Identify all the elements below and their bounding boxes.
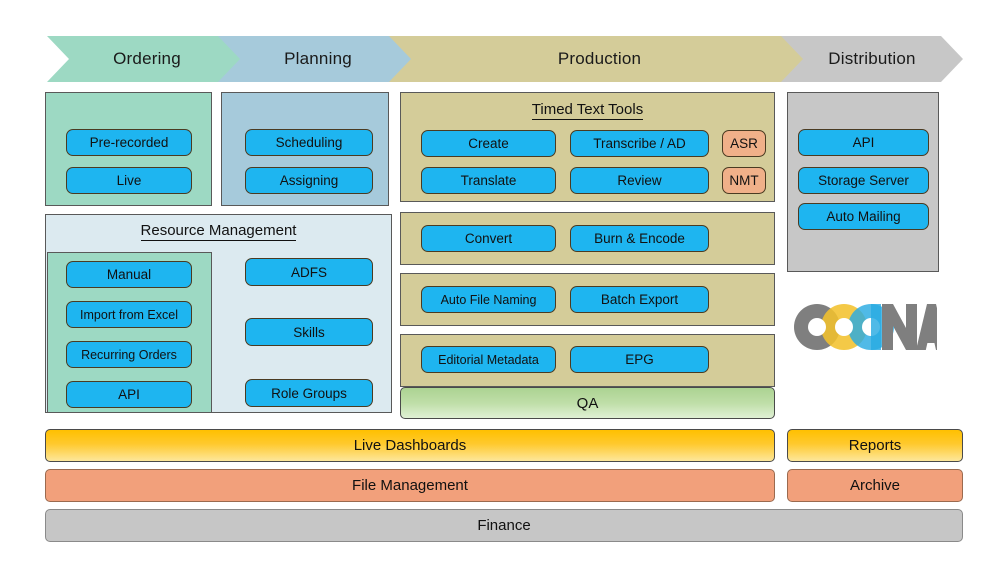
production-item-label: Batch Export xyxy=(601,292,678,307)
rm-item-label: Import from Excel xyxy=(80,308,178,322)
rm-item-adfs[interactable]: ADFS xyxy=(245,258,373,286)
phase-chevron-distribution[interactable]: Distribution xyxy=(781,36,963,82)
ttt-item-asr[interactable]: ASR xyxy=(722,130,766,157)
bar-file-management[interactable]: File Management xyxy=(45,469,775,502)
production-item-convert[interactable]: Convert xyxy=(421,225,556,252)
ttt-item-label: Review xyxy=(617,173,661,188)
production-item-auto-file-naming[interactable]: Auto File Naming xyxy=(421,286,556,313)
ordering-item-label: Pre-recorded xyxy=(90,135,169,150)
ttt-item-label: Transcribe / AD xyxy=(593,136,686,151)
production-item-burn-encode[interactable]: Burn & Encode xyxy=(570,225,709,252)
phase-label-production: Production xyxy=(558,49,641,69)
ordering-item-label: Live xyxy=(117,173,142,188)
phase-chevron-ordering[interactable]: Ordering xyxy=(47,36,247,82)
production-item-editorial-metadata[interactable]: Editorial Metadata xyxy=(421,346,556,373)
bar-qa-label: QA xyxy=(577,395,599,412)
planning-item-assigning[interactable]: Assigning xyxy=(245,167,373,194)
rm-item-skills[interactable]: Skills xyxy=(245,318,373,346)
rm-item-role-groups[interactable]: Role Groups xyxy=(245,379,373,407)
distribution-item-label: Auto Mailing xyxy=(826,209,900,224)
ttt-item-nmt[interactable]: NMT xyxy=(722,167,766,194)
timed-text-tools-heading: Timed Text Tools xyxy=(400,98,775,122)
rm-item-api[interactable]: API xyxy=(66,381,192,408)
ttt-item-label: Translate xyxy=(461,173,517,188)
rm-item-label: ADFS xyxy=(291,265,327,280)
phase-chevron-planning[interactable]: Planning xyxy=(218,36,418,82)
ttt-item-label: NMT xyxy=(729,173,758,188)
production-item-label: Editorial Metadata xyxy=(438,353,539,367)
distribution-item-api[interactable]: API xyxy=(798,129,929,156)
bar-live-dashboards-label: Live Dashboards xyxy=(354,437,467,454)
production-item-label: EPG xyxy=(625,352,654,367)
phase-chevron-production[interactable]: Production xyxy=(389,36,810,82)
bar-finance-label: Finance xyxy=(477,517,530,534)
rm-item-manual[interactable]: Manual xyxy=(66,261,192,288)
ttt-item-label: ASR xyxy=(730,136,758,151)
ordering-item-pre-recorded[interactable]: Pre-recorded xyxy=(66,129,192,156)
distribution-item-auto-mailing[interactable]: Auto Mailing xyxy=(798,203,929,230)
ttt-item-review[interactable]: Review xyxy=(570,167,709,194)
rm-item-label: Role Groups xyxy=(271,386,347,401)
rm-item-label: Manual xyxy=(107,267,151,282)
phase-label-distribution: Distribution xyxy=(828,49,915,69)
phase-label-ordering: Ordering xyxy=(113,49,181,69)
ttt-item-label: Create xyxy=(468,136,509,151)
bar-reports[interactable]: Reports xyxy=(787,429,963,462)
bar-archive[interactable]: Archive xyxy=(787,469,963,502)
bar-qa[interactable]: QA xyxy=(400,387,775,419)
distribution-item-label: Storage Server xyxy=(818,173,909,188)
rm-item-label: Skills xyxy=(293,325,325,340)
planning-item-scheduling[interactable]: Scheduling xyxy=(245,129,373,156)
production-item-label: Convert xyxy=(465,231,512,246)
ordering-item-live[interactable]: Live xyxy=(66,167,192,194)
bar-finance[interactable]: Finance xyxy=(45,509,963,542)
bar-reports-label: Reports xyxy=(849,437,902,454)
ttt-item-transcribe-ad[interactable]: Transcribe / AD xyxy=(570,130,709,157)
distribution-item-label: API xyxy=(853,135,875,150)
ttt-item-create[interactable]: Create xyxy=(421,130,556,157)
planning-item-label: Scheduling xyxy=(276,135,343,150)
rm-item-import-from-excel[interactable]: Import from Excel xyxy=(66,301,192,328)
oona-logo xyxy=(792,303,937,351)
resource-management-heading: Resource Management xyxy=(45,216,392,247)
production-item-label: Auto File Naming xyxy=(441,293,537,307)
planning-item-label: Assigning xyxy=(280,173,339,188)
rm-item-label: API xyxy=(118,387,140,402)
bar-file-management-label: File Management xyxy=(352,477,468,494)
ttt-item-translate[interactable]: Translate xyxy=(421,167,556,194)
bar-live-dashboards[interactable]: Live Dashboards xyxy=(45,429,775,462)
rm-item-label: Recurring Orders xyxy=(81,348,177,362)
production-item-batch-export[interactable]: Batch Export xyxy=(570,286,709,313)
bar-archive-label: Archive xyxy=(850,477,900,494)
distribution-item-storage-server[interactable]: Storage Server xyxy=(798,167,929,194)
production-item-label: Burn & Encode xyxy=(594,231,685,246)
phase-label-planning: Planning xyxy=(284,49,352,69)
production-item-epg[interactable]: EPG xyxy=(570,346,709,373)
workflow-diagram: Ordering Planning Production Distributio… xyxy=(0,0,1000,563)
rm-item-recurring-orders[interactable]: Recurring Orders xyxy=(66,341,192,368)
